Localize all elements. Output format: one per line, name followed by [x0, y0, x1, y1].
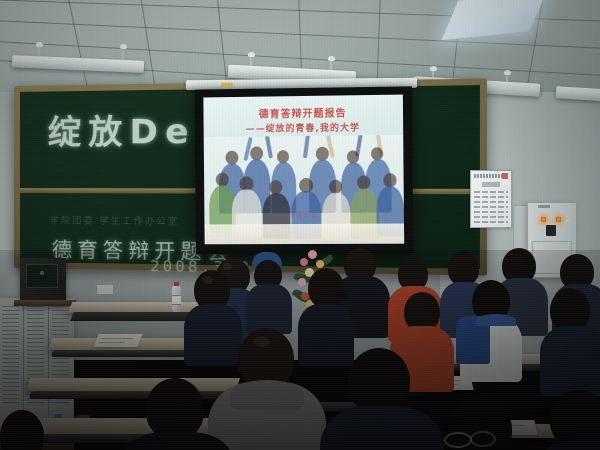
- torso: [298, 304, 354, 366]
- torso: [184, 304, 242, 366]
- jacket-collar: [476, 314, 516, 326]
- slide-group-photo: [204, 135, 404, 244]
- projected-slide: 德育答辩开题报告 ——绽放的青春,我的大学: [203, 95, 404, 245]
- cabinet-label-strip: [538, 205, 550, 208]
- head: [146, 378, 204, 440]
- slide-footer-text: 青春记忆: [204, 209, 404, 220]
- head: [348, 348, 410, 414]
- roller-label-sticker: [221, 83, 233, 87]
- audience: [0, 240, 600, 450]
- poster-title-line: [474, 174, 502, 178]
- cabinet-indicator-light: [556, 217, 561, 222]
- torso: [246, 284, 292, 334]
- eyeglasses-icon: [470, 431, 496, 447]
- slide-subtitle: ——绽放的青春,我的大学: [204, 120, 404, 135]
- head: [448, 252, 479, 286]
- classroom-photo: 绽放De青春 学院团委 学生工作办公室 德育答辩开题会 2008.3.22 德育…: [0, 0, 600, 450]
- hair-tie: [334, 292, 346, 302]
- slide-title: 德育答辩开题报告: [203, 104, 403, 122]
- chalk-faint-annotation: 学院团委 学生工作办公室: [50, 213, 179, 227]
- head: [308, 268, 344, 308]
- fluorescent-fixture: [556, 86, 600, 102]
- cabinet-power-socket[interactable]: [546, 225, 556, 236]
- cabinet-status-dot: [566, 219, 569, 222]
- projection-screen: 德育答辩开题报告 ——绽放的青春,我的大学: [194, 86, 413, 254]
- hood: [230, 380, 304, 410]
- fluorescent-fixture: [12, 55, 144, 73]
- cabinet-indicator-light: [541, 217, 546, 222]
- head: [0, 410, 44, 450]
- torso: [320, 406, 444, 450]
- poster-subhead: [482, 182, 500, 187]
- poster-logo-icon: [502, 173, 508, 179]
- torso: [540, 440, 600, 450]
- class-schedule-poster: [470, 170, 512, 228]
- eyeglasses-icon: [444, 432, 472, 448]
- torso: [540, 326, 600, 396]
